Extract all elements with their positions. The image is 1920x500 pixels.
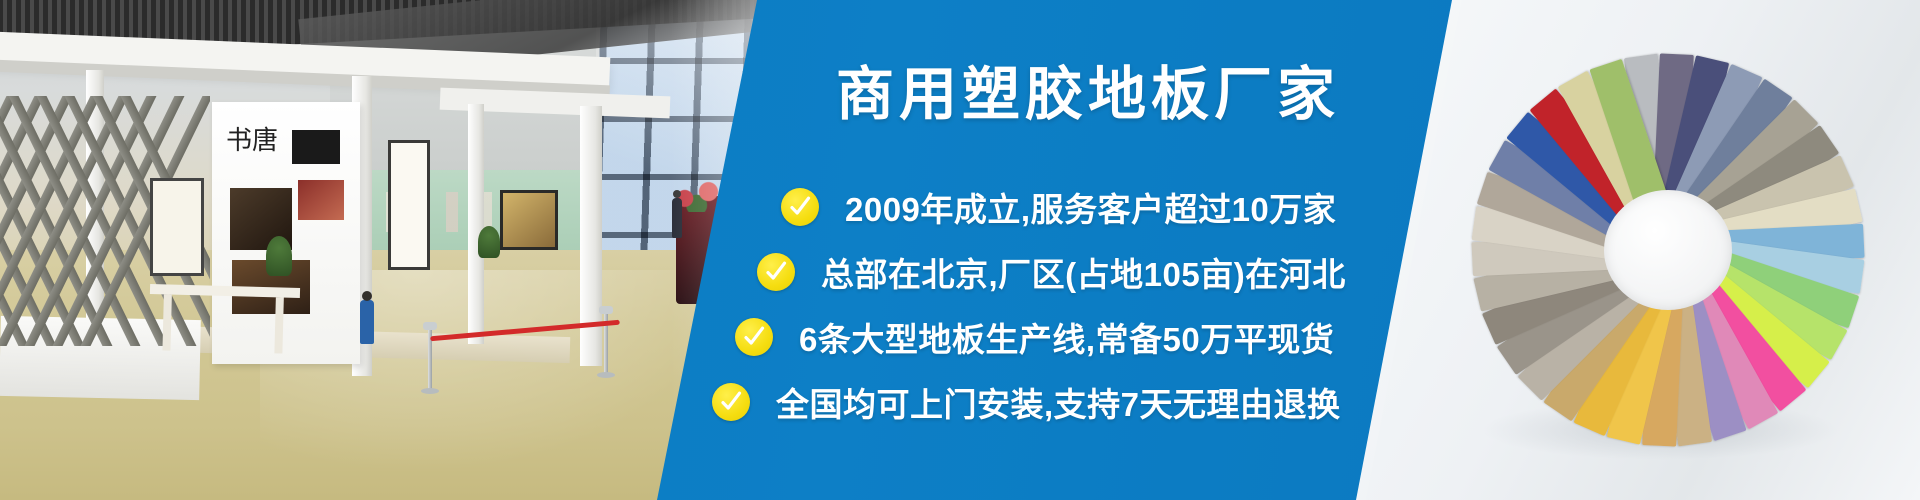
- list-item: 2009年成立,服务客户超过10万家: [781, 183, 1336, 231]
- check-circle-icon: [735, 318, 773, 356]
- list-item: 全国均可上门安装,支持7天无理由退换: [712, 378, 1341, 426]
- list-item-label: 2009年成立,服务客户超过10万家: [845, 183, 1336, 231]
- feature-list: 2009年成立,服务客户超过10万家 总部在北京,厂区(占地105亩)在河北 6…: [0, 0, 1920, 500]
- check-circle-icon: [757, 253, 795, 291]
- list-item-label: 6条大型地板生产线,常备50万平现货: [799, 313, 1334, 361]
- check-circle-icon: [712, 383, 750, 421]
- promo-banner: 书唐 商用塑胶地板厂家: [0, 0, 1920, 500]
- list-item-label: 全国均可上门安装,支持7天无理由退换: [776, 378, 1341, 426]
- check-circle-icon: [781, 188, 819, 226]
- banner-content: 商用塑胶地板厂家 2009年成立,服务客户超过10万家 总部在北京,厂区(占地1…: [0, 0, 1920, 500]
- list-item: 6条大型地板生产线,常备50万平现货: [735, 313, 1334, 361]
- list-item: 总部在北京,厂区(占地105亩)在河北: [757, 248, 1346, 296]
- list-item-label: 总部在北京,厂区(占地105亩)在河北: [821, 248, 1346, 296]
